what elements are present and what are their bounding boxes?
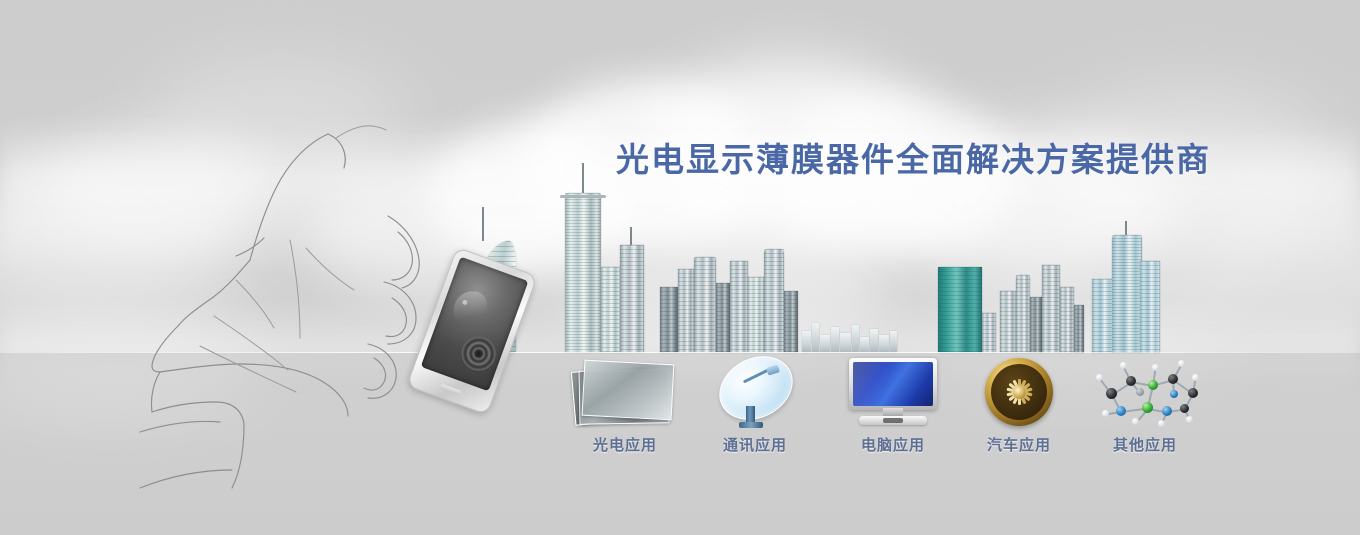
molecule-atom bbox=[1158, 420, 1165, 427]
molecule-atom bbox=[1142, 402, 1153, 413]
molecule-atom bbox=[1192, 374, 1199, 381]
tower bbox=[716, 283, 730, 353]
molecule-atom bbox=[1188, 388, 1198, 398]
molecule-atom bbox=[1102, 410, 1109, 417]
tower bbox=[660, 287, 678, 353]
tower bbox=[1092, 279, 1114, 353]
molecule-atom bbox=[1132, 418, 1139, 425]
satellite-dish-icon bbox=[712, 356, 798, 428]
tower bbox=[678, 269, 694, 353]
application-label: 其他应用 bbox=[1070, 434, 1220, 455]
molecule-atom bbox=[1152, 364, 1159, 371]
tower bbox=[1030, 297, 1042, 353]
tower bbox=[694, 257, 716, 353]
molecule-atom bbox=[1126, 376, 1136, 386]
molecule-atom bbox=[1186, 416, 1193, 423]
molecule-atom bbox=[1148, 380, 1158, 390]
application-item-optoelectronic[interactable]: 光电应用 bbox=[550, 356, 700, 455]
teal-tower bbox=[938, 267, 982, 353]
tower bbox=[1000, 291, 1016, 353]
tower bbox=[1074, 305, 1084, 353]
tower bbox=[982, 313, 996, 353]
molecule-atom bbox=[1096, 374, 1103, 381]
tower bbox=[748, 277, 764, 353]
molecule-atom bbox=[1168, 374, 1178, 384]
city-skyline bbox=[460, 175, 1160, 353]
blue-tower bbox=[1112, 235, 1142, 353]
molecule-atom bbox=[1178, 360, 1185, 367]
molecule-atom bbox=[1106, 388, 1117, 399]
molecule-icon bbox=[1090, 358, 1200, 426]
tower bbox=[620, 245, 644, 353]
tower bbox=[1016, 275, 1030, 353]
application-item-other[interactable]: 其他应用 bbox=[1070, 356, 1220, 455]
application-icon-row: 光电应用 通讯应用 bbox=[0, 356, 1360, 466]
molecule-atom bbox=[1136, 388, 1144, 396]
molecule-atom bbox=[1120, 362, 1127, 369]
application-label: 通讯应用 bbox=[680, 434, 830, 455]
molecule-atom bbox=[1162, 406, 1172, 416]
banner-stage: 光电显示薄膜器件全面解决方案提供商 光电应用 bbox=[0, 0, 1360, 535]
application-item-communication[interactable]: 通讯应用 bbox=[680, 356, 830, 455]
car-wheel-icon bbox=[985, 358, 1053, 426]
computer-monitor-icon bbox=[845, 358, 941, 428]
application-label: 光电应用 bbox=[550, 434, 700, 455]
tower bbox=[784, 291, 798, 353]
molecule-atom bbox=[1116, 406, 1126, 416]
tower bbox=[1140, 261, 1160, 353]
tower bbox=[1042, 265, 1060, 353]
tower bbox=[1060, 287, 1074, 353]
molecule-atom bbox=[1180, 404, 1189, 413]
molecule-atom bbox=[1170, 390, 1178, 398]
main-tower bbox=[565, 193, 601, 353]
tower bbox=[764, 249, 784, 353]
tower bbox=[601, 267, 621, 353]
page-title: 光电显示薄膜器件全面解决方案提供商 bbox=[616, 140, 1211, 180]
tower bbox=[730, 261, 748, 353]
glass-panels-icon bbox=[571, 358, 679, 426]
